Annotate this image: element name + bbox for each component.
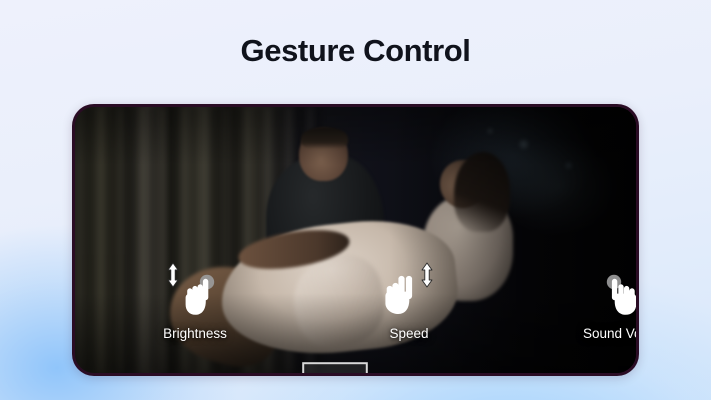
gesture-label-sound-volume: Sound Volume <box>583 326 636 341</box>
gesture-hotspot-brightness[interactable]: Brightness <box>158 262 232 341</box>
gesture-label-brightness: Brightness <box>163 326 227 341</box>
gesture-hotspot-zoom-and-pan[interactable]: Zoom and pan <box>294 362 404 373</box>
gesture-art-zoom-and-pan <box>294 362 404 373</box>
video-player-frame: Brightness Speed <box>72 104 639 376</box>
one-finger-vertical-swipe-icon <box>174 272 226 324</box>
gesture-control-screen: Gesture Control <box>0 0 711 400</box>
gesture-hotspot-sound-volume[interactable]: Sound Volume <box>583 262 636 341</box>
gesture-art-sound-volume <box>590 262 636 324</box>
video-player-screen[interactable]: Brightness Speed <box>75 107 636 373</box>
gesture-label-speed: Speed <box>389 326 428 341</box>
zoom-frame-icon <box>302 362 368 373</box>
gesture-art-speed <box>372 262 446 324</box>
two-finger-vertical-swipe-icon <box>376 270 430 324</box>
gesture-hotspot-speed[interactable]: Speed <box>372 262 446 341</box>
one-finger-vertical-swipe-icon <box>596 272 636 324</box>
page-title: Gesture Control <box>0 33 711 69</box>
gesture-art-brightness <box>158 262 232 324</box>
